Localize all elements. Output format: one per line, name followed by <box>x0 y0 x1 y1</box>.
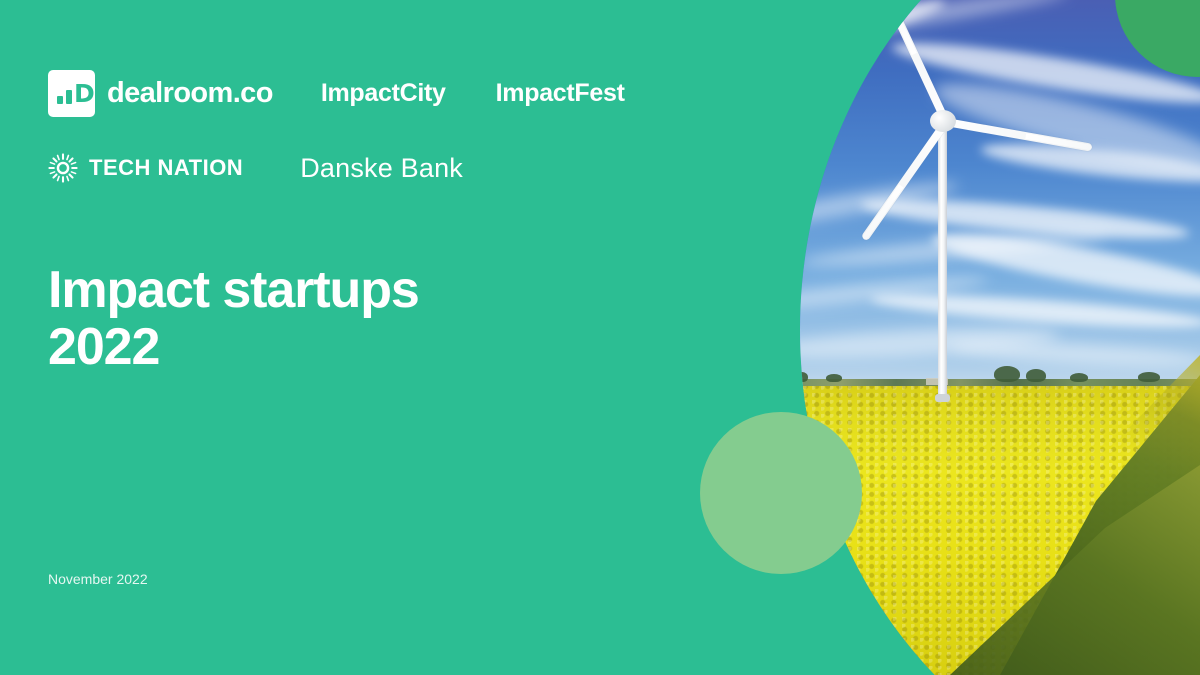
slide-date: November 2022 <box>48 571 148 587</box>
partner-logos-row-1: D dealroom.co ImpactCity ImpactFest <box>48 60 688 126</box>
sunburst-icon <box>48 153 78 183</box>
logo-technation[interactable]: TECH NATION <box>48 153 243 183</box>
partner-logos: D dealroom.co ImpactCity ImpactFest <box>48 60 688 191</box>
hero-photo <box>740 0 1200 675</box>
tree <box>1138 372 1160 382</box>
logo-dealroom[interactable]: D dealroom.co <box>48 70 273 117</box>
logo-dealroom-label: dealroom.co <box>107 77 273 110</box>
partner-logos-row-2: TECH NATION Danske Bank <box>48 145 688 191</box>
logo-impactcity[interactable]: ImpactCity <box>321 79 446 108</box>
slide-canvas: D dealroom.co ImpactCity ImpactFest <box>0 0 1200 675</box>
turbine-mast <box>938 118 947 398</box>
tree <box>796 372 808 382</box>
hero-photo-image <box>740 0 1200 675</box>
dealroom-d-letter: D <box>74 81 95 106</box>
page-title: Impact startups 2022 <box>48 262 419 375</box>
bar-chart-icon <box>66 90 72 104</box>
logo-impactfest[interactable]: ImpactFest <box>496 79 625 108</box>
decorative-circle-light-green <box>700 412 862 574</box>
tree <box>1070 373 1088 382</box>
turbine-hub <box>930 110 956 132</box>
logo-technation-label: TECH NATION <box>89 155 243 181</box>
tree <box>994 366 1020 382</box>
dealroom-logomark: D <box>48 70 95 117</box>
tree <box>1026 369 1046 382</box>
bar-chart-icon <box>57 96 63 104</box>
tree <box>826 374 842 382</box>
farm-building <box>750 381 766 386</box>
logo-danskebank[interactable]: Danske Bank <box>300 153 463 184</box>
